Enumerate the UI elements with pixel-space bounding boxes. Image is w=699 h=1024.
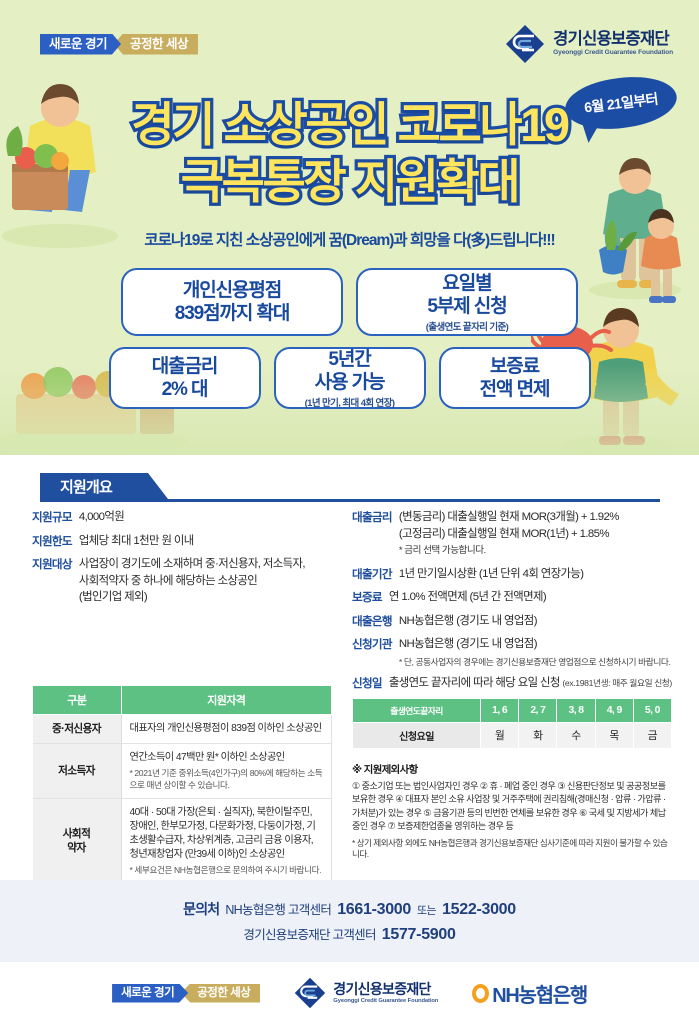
detail-key: 지원대상 [32, 557, 72, 607]
contact-number-foundation[interactable]: 1577-5900 [382, 926, 456, 944]
detail-value-line-1: (변동금리) 대출실행일 현재 MOR(3개월) + 1.92% [399, 510, 619, 526]
weekday-cell: 수 [557, 723, 595, 749]
hero-headline: 경기 소상공인 코로나19 극복통장 지원확대 [0, 96, 699, 210]
gcgf-emblem-icon [505, 24, 545, 64]
table-header-row: 구분 지원자격 [33, 686, 332, 715]
detail-value: 연 1.0% 전액면제 (5년 간 전액면제) [389, 590, 546, 606]
detail-value: 4,000억원 [79, 510, 124, 526]
gcgf-emblem-icon [294, 977, 326, 1009]
table-row: 저소득자 연간소득이 47백만 원* 이하인 소상공인 * 2021년 기준 중… [33, 744, 332, 799]
hero-subtitle: 코로나19로 지친 소상공인에게 꿈(Dream)과 희망을 다(多)드립니다!… [0, 228, 699, 250]
contact-org-foundation: 경기신용보증재단 고객센터 [243, 924, 375, 943]
detail-row-support-scale: 지원규모 4,000억원 [32, 510, 342, 527]
table-row: 사회적 약자 40대 · 50대 가장(은퇴 · 실직자), 북한이탈주민, 장… [33, 799, 332, 885]
detail-value: NH농협은행 (경기도 내 영업점) [399, 637, 671, 653]
row-category: 사회적 약자 [33, 799, 122, 885]
detail-row-application-agency: 신청기관 NH농협은행 (경기도 내 영업점) * 단, 공동사업자의 경우에는… [352, 637, 672, 669]
row-category: 저소득자 [33, 744, 122, 799]
detail-row-loan-rate: 대출금리 (변동금리) 대출실행일 현재 MOR(3개월) + 1.92% (고… [352, 510, 672, 560]
contact-section: 문의처 NH농협은행 고객센터 1661-3000 또는 1522-3000 경… [0, 880, 699, 962]
hero-section: 새로운 경기 공정한 세상 경기신용보증재단 Gyeonggi Credit G… [0, 0, 699, 455]
detail-value-note: * 금리 선택 가능합니다. [399, 543, 619, 559]
detail-value-note: * 단, 공동사업자의 경우에는 경기신용보증재단 영업점으로 신청하시기 바랍… [399, 656, 671, 668]
detail-key: 신청기관 [352, 637, 392, 669]
weekday-cell: 금 [633, 723, 671, 749]
slogan-left-badge: 새로운 경기 [40, 34, 121, 55]
footer-nh-logo: NH농협은행 [472, 979, 587, 1008]
nh-bank-name: NH농협은행 [492, 979, 587, 1008]
section-title: 지원개요 [60, 476, 112, 497]
footer-slogan-right: 공정한 세상 [181, 984, 260, 1003]
detail-value-example: (ex.1981년생: 매주 월요일 신청) [562, 678, 672, 688]
feature-line-1: 대출금리 [152, 355, 218, 378]
nh-ring-icon [472, 984, 489, 1003]
detail-key: 대출금리 [352, 510, 392, 560]
footer-slogan-left: 새로운 경기 [112, 984, 188, 1003]
col-header-category: 구분 [33, 686, 122, 715]
contact-label: 문의처 [183, 899, 219, 919]
feature-line-1: 개인신용평점 [183, 279, 281, 302]
feature-line-1: 요일별 [442, 272, 491, 295]
detail-row-loan-term: 대출기간 1년 만기일시상환 (1년 단위 4회 연장가능) [352, 567, 672, 584]
row-text: 연간소득이 47백만 원* 이하인 소상공인 [130, 752, 285, 763]
headline-line-2: 극복통장 지원확대 [0, 153, 699, 210]
table-row: 신청요일 월 화 수 목 금 [353, 723, 672, 749]
detail-value-line-1: 사업장이 경기도에 소재하며 중·저신용자, 저소득자, [79, 557, 305, 573]
weekday-cell: 월 [481, 723, 519, 749]
section-rule [40, 499, 660, 502]
detail-row-eligible-target: 지원대상 사업장이 경기도에 소재하며 중·저신용자, 저소득자, 사회적약자 … [32, 557, 342, 607]
footer-slogan-badges: 새로운 경기 공정한 세상 [112, 983, 260, 1003]
contact-row-foundation: 경기신용보증재단 고객센터 1577-5900 [243, 924, 455, 944]
contact-org-bank: NH농협은행 고객센터 [225, 899, 331, 918]
footer-gcgf-name-en: Gyeonggi Credit Guarantee Foundation [333, 999, 438, 1005]
weekday-cell: 목 [595, 723, 633, 749]
detail-key: 신청일 [352, 676, 382, 692]
detail-key: 지원한도 [32, 534, 72, 551]
detail-value: 출생연도 끝자리에 따라 해당 요일 신청 [389, 677, 560, 689]
feature-note: (1년 만기, 최대 4회 연장) [305, 395, 395, 409]
feature-line-2: 5부제 신청 [427, 295, 506, 318]
birth-digit-cell: 3, 8 [557, 699, 595, 723]
row-qualification: 40대 · 50대 가장(은퇴 · 실직자), 북한이탈주민, 장애인, 한부모… [121, 799, 332, 885]
slogan-badges: 새로운 경기 공정한 세상 [40, 33, 198, 55]
gcgf-logo: 경기신용보증재단 Gyeonggi Credit Guarantee Found… [505, 24, 673, 64]
feature-line-2: 839점까지 확대 [175, 302, 289, 325]
feature-row-bottom: 대출금리 2% 대 5년간 사용 가능 (1년 만기, 최대 4회 연장) 보증… [0, 347, 699, 409]
feature-line-1: 5년간 [328, 348, 370, 371]
detail-row-loan-bank: 대출은행 NH농협은행 (경기도 내 영업점) [352, 614, 672, 631]
birth-digit-cell: 4, 9 [595, 699, 633, 723]
detail-value-line-2: 사회적약자 중 하나에 해당하는 소상공인 [79, 574, 305, 590]
row-qualification: 연간소득이 47백만 원* 이하인 소상공인 * 2021년 기준 중위소득(4… [121, 744, 332, 799]
contact-number-bank-2[interactable]: 1522-3000 [442, 901, 516, 919]
detail-key: 대출기간 [352, 567, 392, 584]
slogan-right-badge: 공정한 세상 [114, 34, 198, 55]
feature-line-2: 사용 가능 [315, 371, 385, 394]
birth-digit-cell: 5, 0 [633, 699, 671, 723]
feature-box-credit-score: 개인신용평점 839점까지 확대 [121, 268, 343, 336]
detail-key: 보증료 [352, 590, 382, 607]
detail-row-application-date: 신청일 출생연도 끝자리에 따라 해당 요일 신청 (ex.1981년생: 매주… [352, 676, 672, 692]
row-subnote: * 세부요건은 NH농협은행으로 문의하여 주시기 바랍니다. [130, 865, 324, 877]
detail-value: 1년 만기일시상환 (1년 단위 4회 연장가능) [399, 567, 584, 583]
contact-number-bank-1[interactable]: 1661-3000 [337, 901, 411, 919]
five-day-rotation-table: 출생연도끝자리 1, 6 2, 7 3, 8 4, 9 5, 0 신청요일 월 … [352, 698, 672, 749]
weekday-cell: 화 [519, 723, 557, 749]
row-text: 대표자의 개인신용평점이 839점 이하인 소상공인 [130, 723, 322, 734]
table-header-row: 출생연도끝자리 1, 6 2, 7 3, 8 4, 9 5, 0 [353, 699, 672, 723]
details-section: 지원개요 지원규모 4,000억원 지원한도 업체당 최대 1천만 원 이내 지… [0, 455, 699, 880]
row-category: 중·저신용자 [33, 715, 122, 744]
feature-box-weekday-rotation: 요일별 5부제 신청 (출생연도 끝자리 기준) [356, 268, 578, 336]
right-column: 대출금리 (변동금리) 대출실행일 현재 MOR(3개월) + 1.92% (고… [352, 510, 672, 861]
row-label-weekday: 신청요일 [353, 723, 481, 749]
left-column: 지원규모 4,000억원 지원한도 업체당 최대 1천만 원 이내 지원대상 사… [32, 510, 342, 614]
row-qualification: 대표자의 개인신용평점이 839점 이하인 소상공인 [121, 715, 332, 744]
footer-gcgf-name-ko: 경기신용보증재단 [333, 982, 438, 996]
feature-box-interest-rate: 대출금리 2% 대 [109, 347, 261, 409]
gcgf-name-ko: 경기신용보증재단 [553, 31, 673, 48]
birth-digit-cell: 2, 7 [519, 699, 557, 723]
birth-digit-cell: 1, 6 [481, 699, 519, 723]
detail-value: NH농협은행 (경기도 내 영업점) [399, 614, 537, 630]
exclusion-note: * 상기 제외사항 외에도 NH농협은행과 경기신용보증재단 심사기준에 따라 … [352, 838, 672, 861]
table-row: 중·저신용자 대표자의 개인신용평점이 839점 이하인 소상공인 [33, 715, 332, 744]
contact-row-bank: 문의처 NH농협은행 고객센터 1661-3000 또는 1522-3000 [183, 899, 516, 919]
feature-line-2: 전액 면제 [480, 378, 550, 401]
feature-note: (출생연도 끝자리 기준) [426, 319, 508, 333]
eligibility-table: 구분 지원자격 중·저신용자 대표자의 개인신용평점이 839점 이하인 소상공… [32, 685, 332, 885]
feature-row-top: 개인신용평점 839점까지 확대 요일별 5부제 신청 (출생연도 끝자리 기준… [0, 268, 699, 336]
feature-line-2: 2% 대 [162, 378, 208, 401]
gcgf-name-en: Gyeonggi Credit Guarantee Foundation [553, 50, 673, 57]
detail-value-line-2: (고정금리) 대출실행일 현재 MOR(1년) + 1.85% [399, 527, 619, 543]
col-header-birth-year-digit: 출생연도끝자리 [353, 699, 481, 723]
row-text: 40대 · 50대 가장(은퇴 · 실직자), 북한이탈주민, 장애인, 한부모… [130, 807, 316, 860]
detail-value: 업체당 최대 1천만 원 이내 [79, 534, 194, 550]
col-header-qualification: 지원자격 [121, 686, 332, 715]
detail-key: 지원규모 [32, 510, 72, 527]
headline-line-1: 경기 소상공인 코로나19 [0, 96, 699, 153]
detail-row-support-limit: 지원한도 업체당 최대 1천만 원 이내 [32, 534, 342, 551]
feature-box-guarantee-fee: 보증료 전액 면제 [439, 347, 591, 409]
exclusion-body: ① 중소기업 또는 법인사업자인 경우 ② 휴 · 폐업 중인 경우 ③ 신용판… [352, 780, 672, 834]
detail-key: 대출은행 [352, 614, 392, 631]
footer-section: 새로운 경기 공정한 세상 경기신용보증재단 Gyeonggi Credit G… [0, 962, 699, 1024]
feature-box-five-year-term: 5년간 사용 가능 (1년 만기, 최대 4회 연장) [274, 347, 426, 409]
feature-line-1: 보증료 [490, 355, 539, 378]
footer-gcgf-logo: 경기신용보증재단 Gyeonggi Credit Guarantee Found… [294, 977, 438, 1009]
contact-or: 또는 [417, 902, 436, 918]
row-subnote: * 2021년 기준 중위소득(4인가구)의 80%에 해당하는 소득으로 매년… [130, 768, 324, 791]
detail-value-line-3: (법인기업 제외) [79, 590, 305, 606]
exclusion-title: ※ 지원제외사항 [352, 761, 672, 776]
section-tab: 지원개요 [40, 473, 168, 499]
detail-row-guarantee-fee: 보증료 연 1.0% 전액면제 (5년 간 전액면제) [352, 590, 672, 607]
section-header: 지원개요 [40, 473, 660, 503]
poster: 새로운 경기 공정한 세상 경기신용보증재단 Gyeonggi Credit G… [0, 0, 699, 1024]
